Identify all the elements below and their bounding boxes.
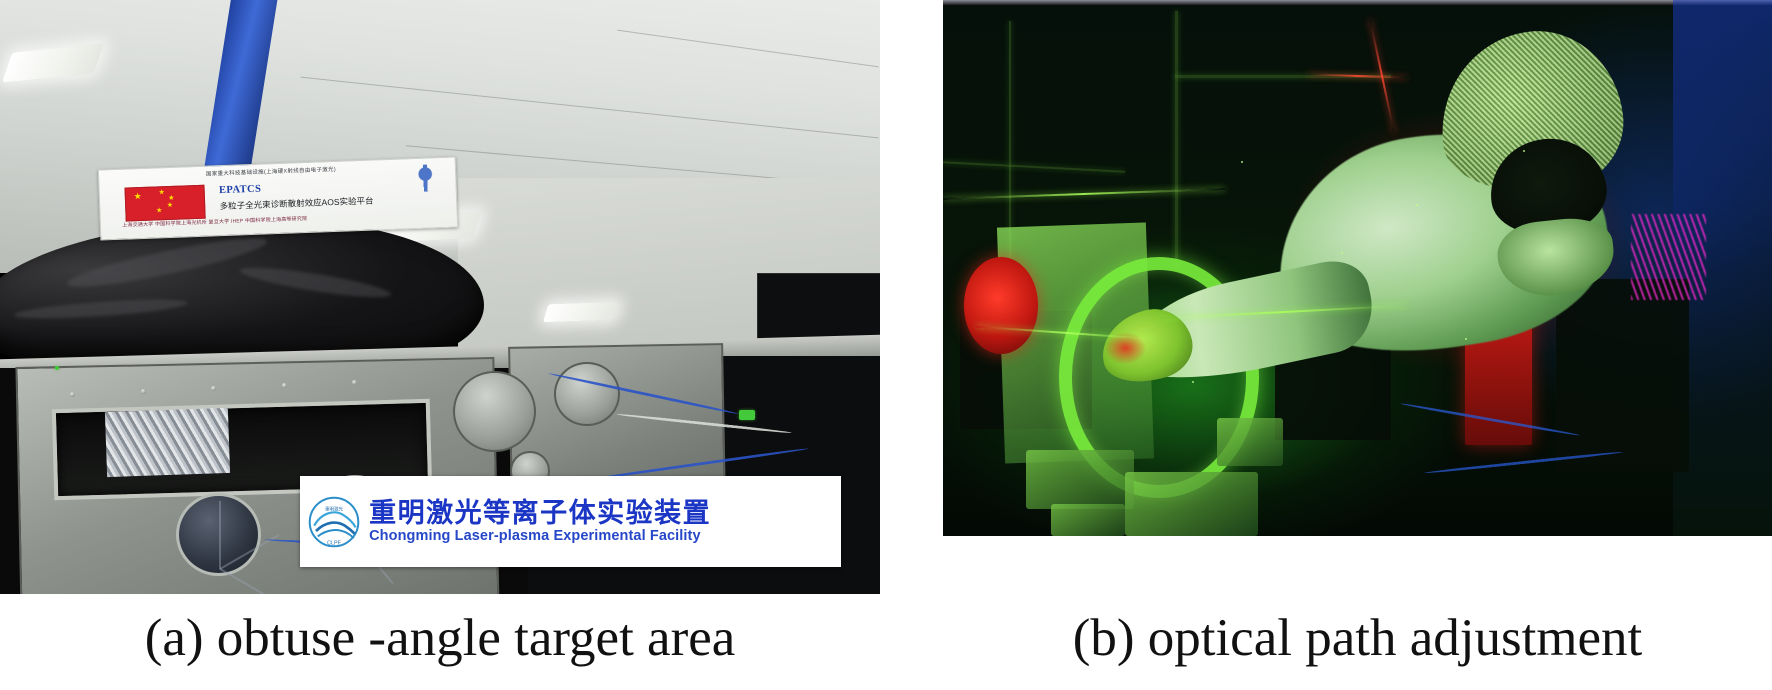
tarp-fold	[14, 296, 188, 322]
red-illuminated-lens	[964, 257, 1039, 353]
bolt	[141, 389, 146, 394]
optics-stage-block	[1051, 504, 1126, 536]
dust-speckle	[1192, 381, 1194, 383]
optics-stage-block	[1026, 450, 1134, 509]
bolt	[282, 383, 287, 388]
panel-a-photo: 国家重大科技基础设施(上海硬X射线自由电子激光) ★ ★ ★ ★ ★ EPATC…	[0, 0, 880, 594]
sign-acronym: EPATCS	[219, 183, 262, 196]
dark-optics-box	[1556, 279, 1689, 472]
banner-title-en: Chongming Laser-plasma Experimental Faci…	[369, 529, 835, 545]
sign-institute-mark-icon	[409, 163, 442, 192]
panel-a-caption: (a) obtuse -angle target area	[0, 612, 880, 665]
green-indicator-led	[55, 366, 59, 370]
chamber-port-flange	[176, 493, 261, 576]
chamber-door-flange	[554, 362, 620, 425]
target-area-photograph: 国家重大科技基础设施(上海硬X射线自由电子激光) ★ ★ ★ ★ ★ EPATC…	[0, 0, 880, 594]
optical-path-photograph	[943, 0, 1772, 536]
figure-container: 国家重大科技基础设施(上海硬X射线自由电子激光) ★ ★ ★ ★ ★ EPATC…	[0, 0, 1772, 690]
dust-speckle	[1416, 204, 1418, 206]
flag-star-small: ★	[159, 189, 166, 196]
wall-monitor	[757, 273, 880, 340]
optics-stage-block	[1217, 418, 1283, 466]
svg-text:CLPF: CLPF	[327, 540, 341, 546]
epatcs-chamber-sign: 国家重大科技基础设施(上海硬X射线自由电子激光) ★ ★ ★ ★ ★ EPATC…	[98, 156, 459, 240]
sign-subtitle: 多粒子全光束诊断散射效应AOS实验平台	[220, 195, 374, 213]
chongming-facility-banner: 重明激光 CLPF 重明激光等离子体实验装置 Chongming Laser-p…	[300, 476, 841, 566]
flag-star-small: ★	[167, 202, 174, 209]
magenta-scatter-glow	[1631, 214, 1706, 300]
banner-title-cn: 重明激光等离子体实验装置	[369, 499, 835, 527]
optics-stage-block	[1125, 472, 1258, 536]
ceiling-light	[543, 302, 619, 322]
sign-header-text: 国家重大科技基础设施(上海硬X射线自由电子激光)	[206, 165, 336, 178]
banner-text-block: 重明激光等离子体实验装置 Chongming Laser-plasma Expe…	[369, 499, 841, 545]
dust-speckle	[1341, 252, 1343, 254]
panel-b-photo	[943, 0, 1772, 536]
panel-b-caption: (b) optical path adjustment	[943, 612, 1772, 665]
photo-top-edge	[943, 0, 1772, 5]
structural-post	[1175, 11, 1178, 268]
green-marker	[739, 410, 755, 420]
tarp-fold	[239, 262, 393, 303]
clpf-logo-icon: 重明激光 CLPF	[307, 495, 361, 549]
foil-reflection	[104, 408, 229, 478]
flag-star-small: ★	[156, 207, 163, 214]
svg-text:重明激光: 重明激光	[325, 505, 343, 512]
port-vane	[219, 501, 221, 569]
china-flag-icon: ★ ★ ★ ★ ★	[125, 184, 207, 221]
flag-star-large: ★	[134, 192, 142, 201]
tarp-fold	[65, 230, 269, 295]
